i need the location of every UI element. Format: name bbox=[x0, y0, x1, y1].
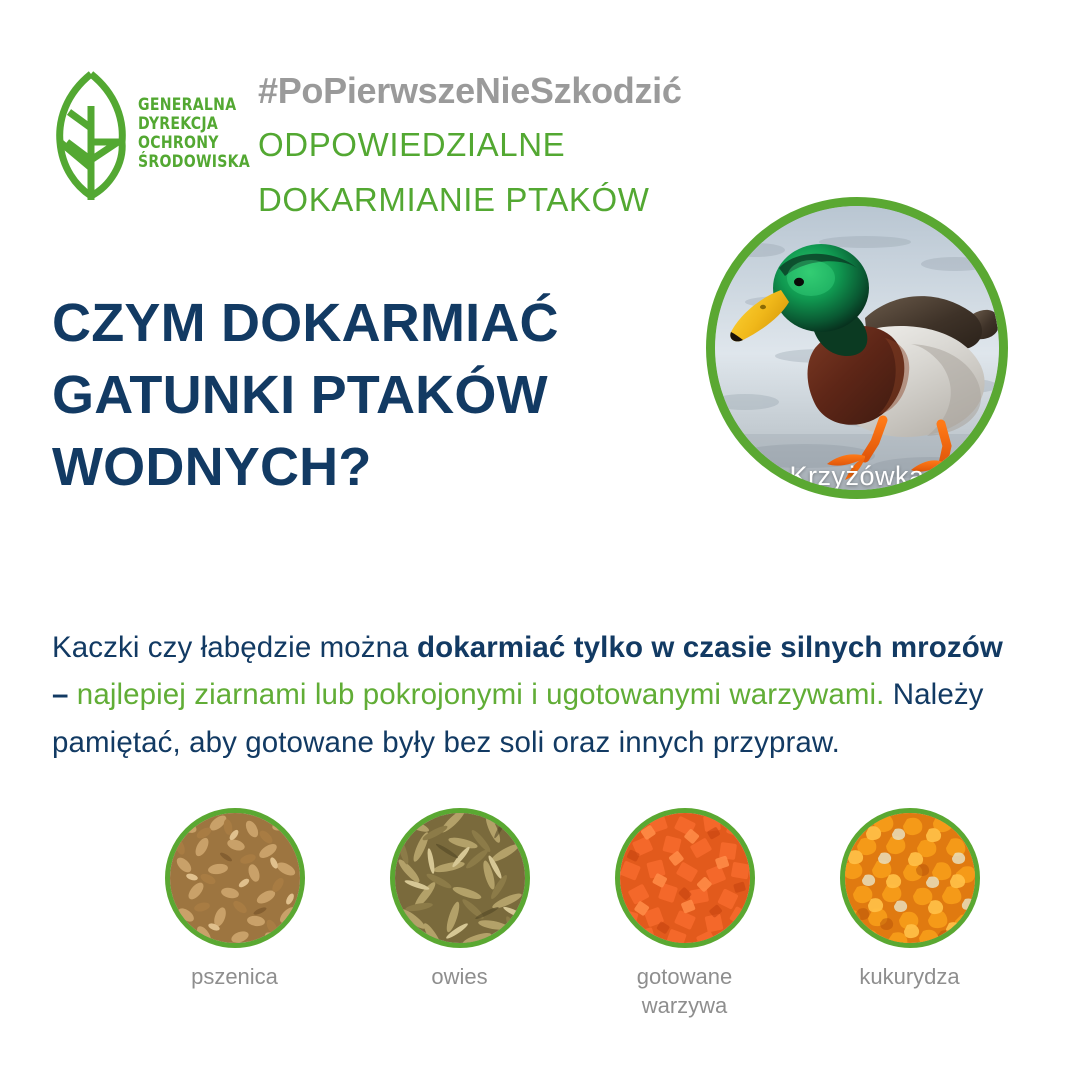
food-label-wheat: pszenica bbox=[191, 962, 278, 991]
diced-carrots-photo bbox=[615, 808, 755, 948]
food-label-cooked-vegetables: gotowane warzywa bbox=[637, 962, 732, 1020]
body-segment-green: najlepiej ziarnami lub pokrojonymi i ugo… bbox=[69, 678, 885, 711]
wheat-grains-photo bbox=[165, 808, 305, 948]
page-title: CZYM DOKARMIAĆ GATUNKI PTAKÓW WODNYCH? bbox=[52, 288, 672, 503]
food-label-corn: kukurydza bbox=[859, 962, 959, 991]
headline-line-2: GATUNKI PTAKÓW bbox=[52, 360, 672, 432]
logo-line-4: ŚRODOWISKA bbox=[138, 153, 250, 172]
food-item-corn: kukurydza bbox=[797, 808, 1022, 1020]
food-label-line-2: warzywa bbox=[637, 991, 732, 1020]
oat-grains-photo bbox=[390, 808, 530, 948]
corn-kernels-photo bbox=[840, 808, 980, 948]
duck-photo-circle: Krzyżówka bbox=[706, 197, 1008, 499]
leaf-icon bbox=[54, 68, 128, 200]
logo-line-3: OCHRONY bbox=[138, 134, 250, 153]
gdos-logo: GENERALNA DYREKCJA OCHRONY ŚRODOWISKA bbox=[54, 68, 260, 200]
body-paragraph: Kaczki czy łabędzie można dokarmiać tylk… bbox=[52, 624, 1027, 767]
photo-caption: Krzyżówka bbox=[715, 461, 999, 492]
food-item-cooked-vegetables: gotowane warzywa bbox=[572, 808, 797, 1020]
campaign-subtitle-line-1: ODPOWIEDZIALNE bbox=[258, 126, 565, 164]
infographic-canvas: GENERALNA DYREKCJA OCHRONY ŚRODOWISKA #P… bbox=[0, 0, 1080, 1080]
body-segment-normal-1: Kaczki czy łabędzie można bbox=[52, 631, 417, 664]
food-items-row: pszenica owies bbox=[0, 808, 1080, 1020]
headline-line-1: CZYM DOKARMIAĆ bbox=[52, 288, 672, 360]
food-item-wheat: pszenica bbox=[122, 808, 347, 1020]
campaign-subtitle-line-2: DOKARMIANIE PTAKÓW bbox=[258, 181, 650, 219]
campaign-hashtag: #PoPierwszeNieSzkodzić bbox=[258, 70, 682, 112]
logo-wordmark: GENERALNA DYREKCJA OCHRONY ŚRODOWISKA bbox=[138, 96, 260, 172]
food-label-oats: owies bbox=[431, 962, 487, 991]
logo-line-2: DYREKCJA bbox=[138, 115, 250, 134]
logo-line-1: GENERALNA bbox=[138, 96, 250, 115]
food-item-oats: owies bbox=[347, 808, 572, 1020]
duck-photo-image bbox=[715, 206, 999, 490]
headline-line-3: WODNYCH? bbox=[52, 432, 672, 504]
food-label-line-1: gotowane bbox=[637, 962, 732, 991]
